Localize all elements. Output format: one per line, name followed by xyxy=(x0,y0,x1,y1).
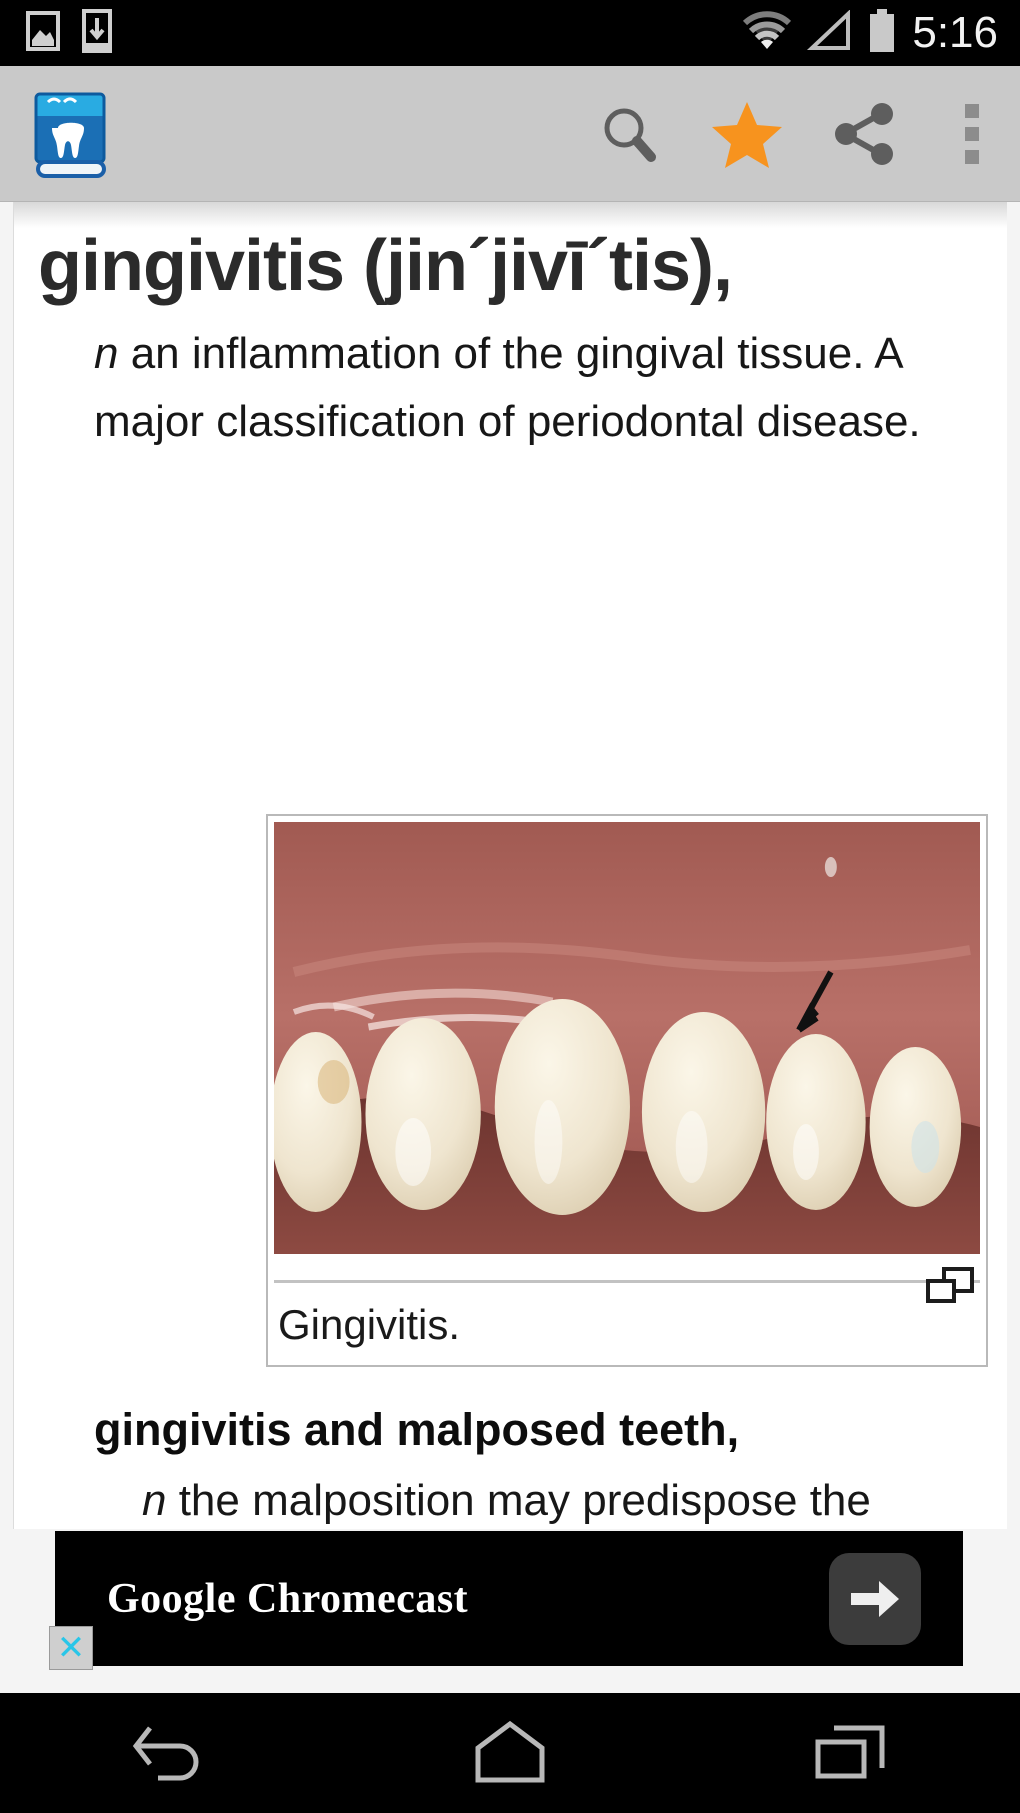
home-icon xyxy=(468,1720,552,1786)
gingivitis-photo[interactable] xyxy=(274,822,980,1254)
ad-banner[interactable]: Google Chromecast ✕ xyxy=(55,1531,963,1666)
definition-text: an inflammation of the gingival tissue. … xyxy=(94,329,921,447)
figure-caption: Gingivitis. xyxy=(274,1301,460,1349)
app-toolbar xyxy=(0,66,1020,202)
app-logo-icon[interactable] xyxy=(28,88,114,180)
expand-image-icon[interactable] xyxy=(924,1265,976,1314)
wifi-icon xyxy=(742,11,792,56)
entry-figure[interactable]: Gingivitis. xyxy=(266,814,988,1367)
screenshot-icon xyxy=(26,10,60,57)
share-button[interactable] xyxy=(806,66,924,202)
android-navigation-bar xyxy=(0,1693,1020,1813)
arrow-right-icon xyxy=(847,1575,903,1623)
status-bar: 5:16 xyxy=(0,0,1020,66)
back-arrow-icon xyxy=(128,1722,212,1784)
status-bar-clock: 5:16 xyxy=(912,8,998,58)
sub-entry-term: gingivitis and malposed teeth, xyxy=(94,1382,947,1461)
entry-headword: gingivitis (jin´jivī´tis), xyxy=(38,228,1007,306)
dictionary-entry-content[interactable]: gingivitis (jin´jivī´tis), n an inflamma… xyxy=(13,202,1007,1529)
android-screen: 5:16 xyxy=(0,0,1020,1813)
sub-entry-definition: n the malposition may predispose the gin… xyxy=(142,1467,957,1529)
overflow-menu-button[interactable] xyxy=(924,66,1020,202)
favorite-button[interactable] xyxy=(688,66,806,202)
share-icon xyxy=(832,101,898,167)
cellular-signal-icon xyxy=(806,10,852,57)
toolbar-actions xyxy=(570,66,1020,202)
nav-back-button[interactable] xyxy=(70,1693,270,1813)
more-vert-icon xyxy=(963,103,981,165)
star-icon xyxy=(711,99,783,169)
part-of-speech-label: n xyxy=(94,329,118,378)
nav-recents-button[interactable] xyxy=(750,1693,950,1813)
ad-close-button[interactable]: ✕ xyxy=(49,1626,93,1670)
status-bar-right-icons: 5:16 xyxy=(742,8,1020,59)
sub-part-of-speech-label: n xyxy=(142,1476,166,1525)
figure-caption-row: Gingivitis. xyxy=(274,1283,980,1367)
recents-icon xyxy=(810,1720,890,1786)
battery-icon xyxy=(866,8,898,59)
search-button[interactable] xyxy=(570,66,688,202)
sub-definition-text: the malposition may predispose the gingi… xyxy=(142,1476,881,1529)
download-icon xyxy=(82,9,112,58)
entry-definition: n an inflammation of the gingival tissue… xyxy=(94,320,929,457)
sub-entry-block: gingivitis and malposed teeth, n the mal… xyxy=(14,1382,1007,1529)
status-bar-left-icons xyxy=(0,9,112,58)
nav-home-button[interactable] xyxy=(410,1693,610,1813)
ad-title: Google Chromecast xyxy=(107,1575,468,1623)
ad-cta-button[interactable] xyxy=(829,1553,921,1645)
